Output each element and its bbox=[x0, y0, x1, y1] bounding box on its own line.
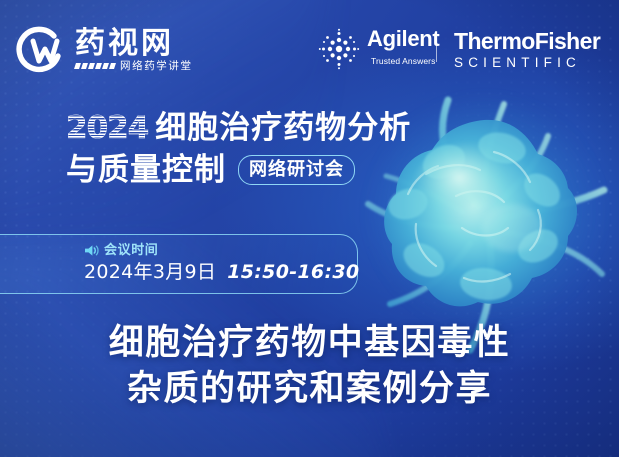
subject-line-1: 细胞治疗药物中基因毒性 bbox=[0, 320, 619, 366]
headline: 2024 细胞治疗药物分析 与质量控制 网络研讨会 bbox=[66, 110, 446, 188]
webinar-poster: 药视网 网络药学讲堂 bbox=[0, 0, 619, 457]
headline-year: 2024 bbox=[66, 111, 148, 145]
headline-line2: 与质量控制 bbox=[66, 152, 226, 188]
cw-circle-logo-icon bbox=[14, 24, 66, 76]
meeting-date: 2024年3月9日 bbox=[84, 260, 216, 284]
agilent-tagline: Trusted Answers bbox=[371, 56, 436, 66]
subject-title: 细胞治疗药物中基因毒性 杂质的研究和案例分享 bbox=[0, 320, 619, 412]
brand-logo[interactable]: 药视网 网络药学讲堂 bbox=[14, 24, 193, 76]
sponsor-divider bbox=[436, 34, 437, 62]
brand-dash-marks bbox=[75, 63, 115, 69]
agilent-starburst-icon bbox=[318, 28, 360, 70]
meeting-time-range: 15:50-16:30 bbox=[227, 260, 359, 284]
thermofisher-logo[interactable]: ThermoFisher SCIENTIFIC bbox=[454, 29, 600, 70]
brand-name: 药视网 bbox=[75, 29, 193, 59]
agilent-logo[interactable]: Agilent Trusted Answers bbox=[318, 27, 439, 70]
meeting-time-label: 会议时间 bbox=[104, 243, 158, 258]
webinar-badge: 网络研讨会 bbox=[238, 155, 355, 185]
thermofisher-sub: SCIENTIFIC bbox=[454, 55, 600, 70]
headline-line1: 细胞治疗药物分析 bbox=[155, 110, 411, 146]
thermofisher-name: ThermoFisher bbox=[454, 29, 600, 53]
megaphone-icon bbox=[84, 244, 99, 257]
meeting-time-panel: 会议时间 2024年3月9日 15:50-16:30 bbox=[0, 234, 358, 294]
agilent-name: Agilent bbox=[367, 27, 439, 50]
brand-tagline: 网络药学讲堂 bbox=[120, 61, 193, 72]
subject-line-2: 杂质的研究和案例分享 bbox=[0, 366, 619, 412]
